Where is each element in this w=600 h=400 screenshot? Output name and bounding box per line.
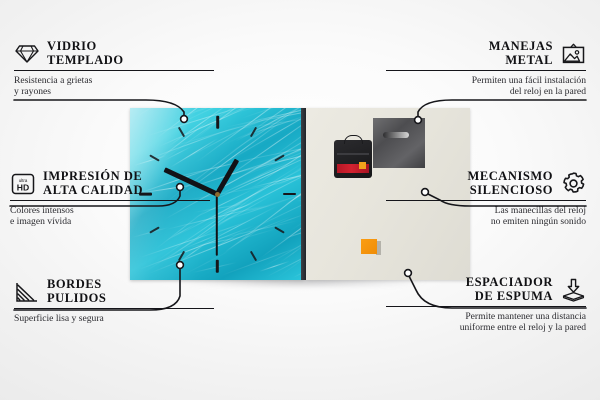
clock-tick [216,115,219,128]
feature-polished-edges: BORDES PULIDOS Superficie lisa y segura [14,278,214,324]
feature-title: VIDRIO TEMPLADO [47,40,124,67]
svg-text:HD: HD [17,182,29,192]
feature-description: Permiten una fácil instalación del reloj… [386,75,586,98]
feature-underline [14,70,214,71]
clock-tick [283,193,296,196]
clock-tick [216,259,219,272]
feature-title: ESPACIADOR DE ESPUMA [466,276,553,303]
feature-underline [386,70,586,71]
feature-underline [386,200,586,201]
feature-description: Colores intensos e imagen vívida [10,205,210,228]
movement-seam [337,153,369,155]
feature-underline [14,308,214,309]
feature-hd-print: ultra HD IMPRESIÓN DE ALTA CALIDAD Color… [10,170,210,228]
feature-underline [386,306,586,307]
feature-description: Superficie lisa y segura [14,313,214,324]
feature-description: Resistencia a grietas y rayones [14,75,214,98]
polished-edges-icon [14,279,40,305]
feature-description: Las manecillas del reloj no emiten ningú… [386,205,586,228]
feature-foam-spacer: ESPACIADOR DE ESPUMA Permite mantener un… [386,276,586,334]
feature-description: Permite mantener una distancia uniforme … [386,311,586,334]
ultra-hd-icon: ultra HD [10,171,36,197]
metal-hanger-plate [373,118,425,168]
feature-title: MANEJAS METAL [489,40,553,67]
feature-title: BORDES PULIDOS [47,278,106,305]
second-hand [216,194,218,256]
hanger-slot [383,132,409,138]
gear-icon [560,171,586,197]
feature-underline [10,200,210,201]
clock-hub [215,192,220,197]
feature-tempered-glass: VIDRIO TEMPLADO Resistencia a grietas y … [14,40,214,98]
infographic-canvas: VIDRIO TEMPLADO Resistencia a grietas y … [0,0,600,400]
picture-frame-icon [560,41,586,67]
feature-metal-handles: MANEJAS METAL Permiten una fácil instala… [386,40,586,98]
quartz-movement [334,140,372,178]
feature-silent-mechanism: MECANISMO SILENCIOSO Las manecillas del … [386,170,586,228]
foam-spacer [361,239,377,254]
feature-title: IMPRESIÓN DE ALTA CALIDAD [43,170,143,197]
feature-title: MECANISMO SILENCIOSO [467,170,553,197]
diamond-icon [14,41,40,67]
battery-terminal [359,162,366,169]
foam-spacer-icon [560,277,586,303]
movement-hanger-loop [344,135,363,144]
